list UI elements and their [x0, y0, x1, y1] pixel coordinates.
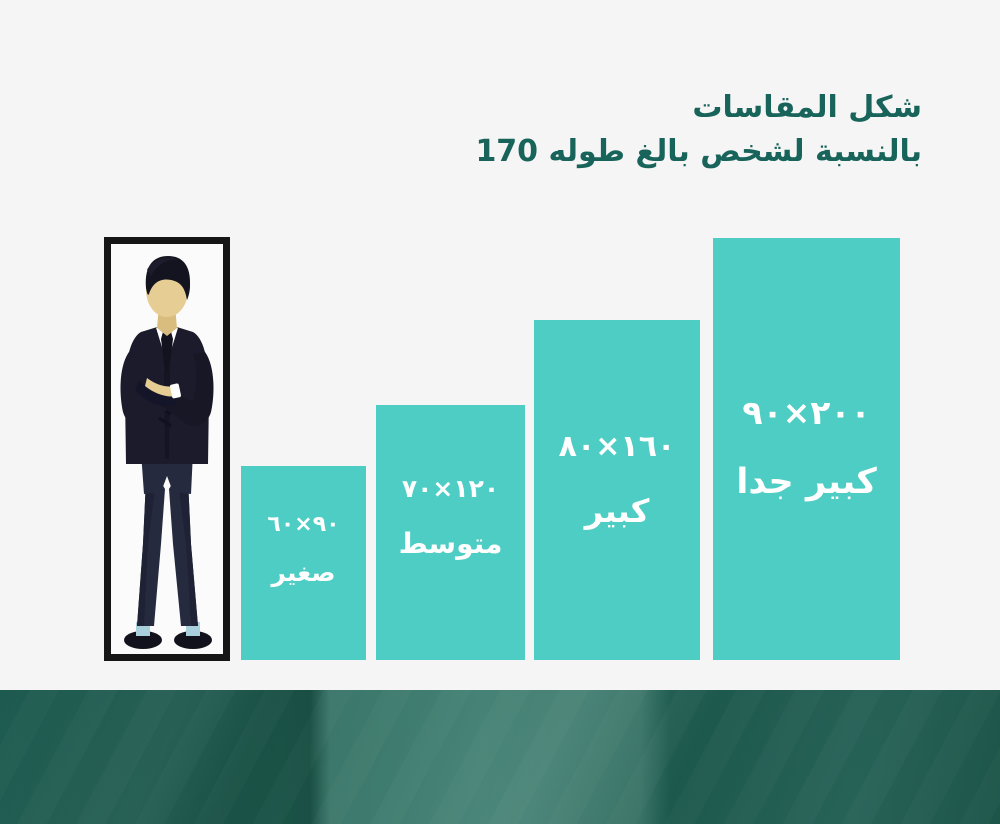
infographic-canvas: شكل المقاسات بالنسبة لشخص بالغ طوله 170: [0, 0, 1000, 824]
page-title: شكل المقاسات بالنسبة لشخص بالغ طوله 170: [475, 88, 922, 171]
decorative-floor-band: [0, 690, 1000, 824]
title-line-2: بالنسبة لشخص بالغ طوله 170: [475, 132, 922, 172]
bar-medium-label: متوسط: [399, 528, 503, 560]
person-illustration-icon: [111, 244, 223, 654]
bar-extra-large[interactable]: ٢٠٠×٩٠ كبير جدا: [713, 238, 900, 660]
bar-small[interactable]: ٩٠×٦٠ صغير: [241, 466, 366, 660]
bar-medium[interactable]: ١٢٠×٧٠ متوسط: [376, 405, 525, 660]
bar-small-label: صغير: [271, 559, 335, 588]
bar-extra-large-label: كبير جدا: [736, 462, 876, 502]
title-line-1: شكل المقاسات: [475, 88, 922, 128]
bar-large-label: كبير: [585, 493, 650, 530]
bar-extra-large-dimension: ٢٠٠×٩٠: [742, 394, 870, 432]
bar-medium-dimension: ١٢٠×٧٠: [402, 475, 499, 504]
bar-large-dimension: ١٦٠×٨٠: [559, 430, 676, 465]
band-stripe-overlay: [0, 690, 1000, 824]
bar-small-dimension: ٩٠×٦٠: [267, 512, 339, 537]
reference-person-frame: [104, 237, 230, 661]
bar-large[interactable]: ١٦٠×٨٠ كبير: [534, 320, 700, 660]
